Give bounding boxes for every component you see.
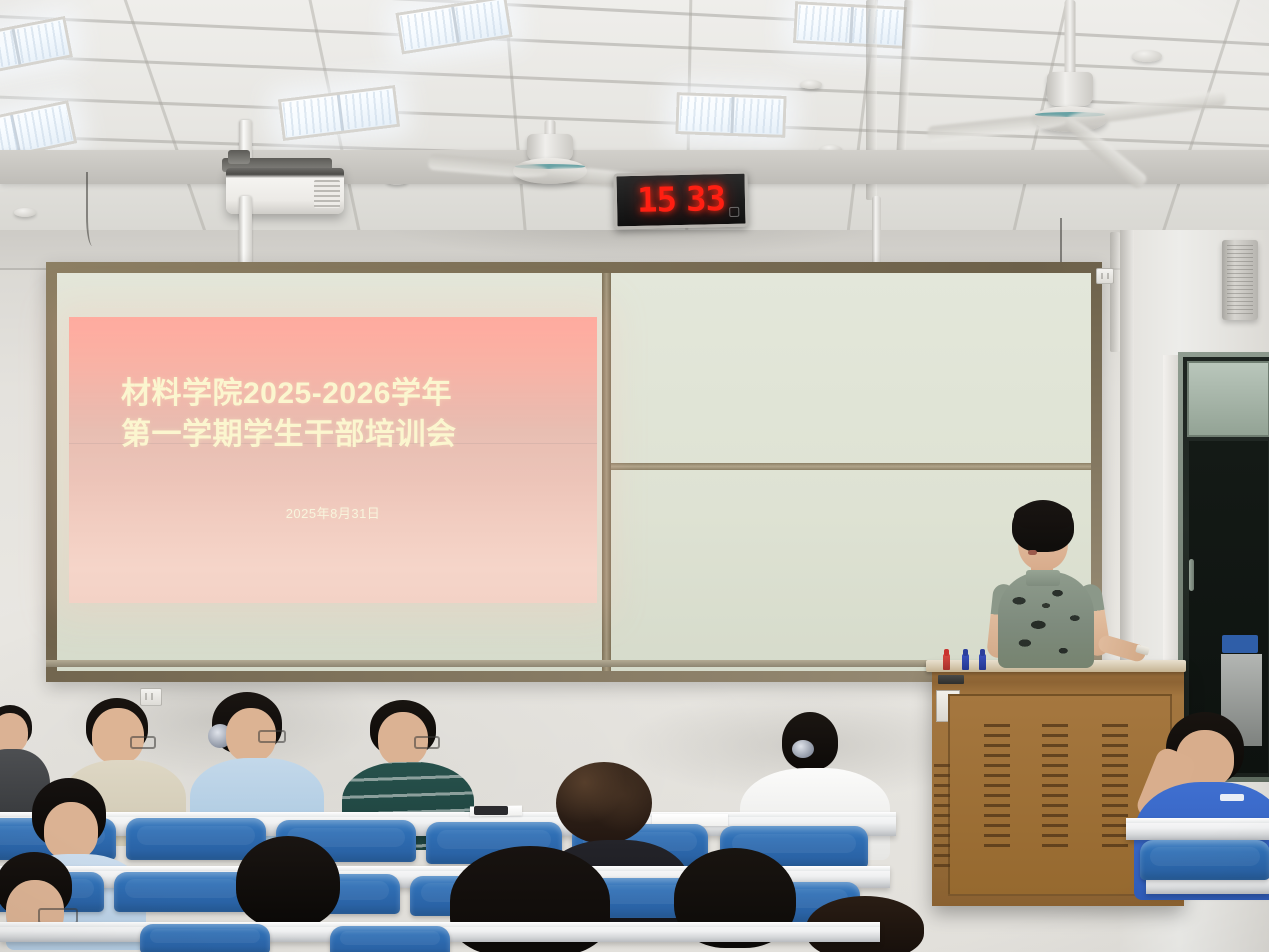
eyeglasses <box>258 730 286 743</box>
lectern-vent <box>1102 724 1128 854</box>
clock-brand-mark <box>729 207 739 217</box>
lectern-vent <box>984 724 1010 854</box>
classroom-whiteboard: 材料学院2025-2026学年 第一学期学生干部培训会 2025年8月31日 <box>46 262 1102 682</box>
lecture-chair[interactable] <box>1140 840 1269 880</box>
smoke-detector-icon <box>1132 50 1162 62</box>
clock-hours: 15 <box>637 183 677 218</box>
whiteboard-tray <box>46 660 1080 667</box>
slide-date: 2025年8月31日 <box>69 503 597 522</box>
wall-speaker <box>1222 240 1258 320</box>
door-transom-window <box>1187 361 1269 437</box>
smoke-detector-icon <box>800 80 822 89</box>
lecture-hall-scene: 15 33 材料学院2025-2026学年 第一学期学生干部培训会 2025年8… <box>0 0 1269 952</box>
slide-title-line-2: 第一学期学生干部培训会 <box>121 414 579 455</box>
slide-title: 材料学院2025-2026学年 第一学期学生干部培训会 <box>121 373 579 456</box>
presenter-shirt <box>998 572 1094 668</box>
led-wall-clock: 15 33 <box>613 171 748 230</box>
blue-marker[interactable] <box>962 654 969 670</box>
lectern-control-plate <box>938 675 964 684</box>
projected-slide: 材料学院2025-2026学年 第一学期学生干部培训会 2025年8月31日 <box>69 317 597 603</box>
ceiling-fan <box>490 120 610 190</box>
lecture-chair[interactable] <box>140 924 270 952</box>
smartphone <box>474 806 508 815</box>
blue-marker[interactable] <box>979 654 986 670</box>
clock-minutes-digits: 33 <box>686 182 726 217</box>
student-speaker <box>990 500 1180 680</box>
slide-title-line-1: 材料学院2025-2026学年 <box>121 373 579 414</box>
smoke-detector-icon <box>14 208 36 217</box>
red-marker[interactable] <box>943 654 950 670</box>
clock-minutes: 33 <box>686 182 726 217</box>
ceiling-fan <box>1005 0 1135 140</box>
hanging-cable <box>86 172 102 246</box>
wall-outlet[interactable] <box>1096 268 1114 284</box>
lectern-vent <box>934 764 950 874</box>
lecture-chair[interactable] <box>330 926 450 952</box>
whiteboard-divider-vertical <box>602 273 611 671</box>
background-object <box>1222 635 1258 653</box>
clock-hours-digits: 15 <box>637 183 677 218</box>
shirt-collar <box>1026 570 1060 586</box>
lectern-vent <box>1042 724 1068 854</box>
fluorescent-light-panel <box>793 1 907 49</box>
slide-tint <box>69 317 597 603</box>
projector-bracket <box>228 150 250 164</box>
whiteboard-divider-horizontal <box>611 463 1091 470</box>
eyeglasses <box>414 736 440 749</box>
desk-row <box>1126 818 1269 840</box>
eyeglasses <box>130 736 156 749</box>
wall-conduit <box>1110 232 1120 352</box>
fluorescent-light-panel <box>675 92 786 138</box>
door-handle[interactable] <box>1189 559 1194 591</box>
